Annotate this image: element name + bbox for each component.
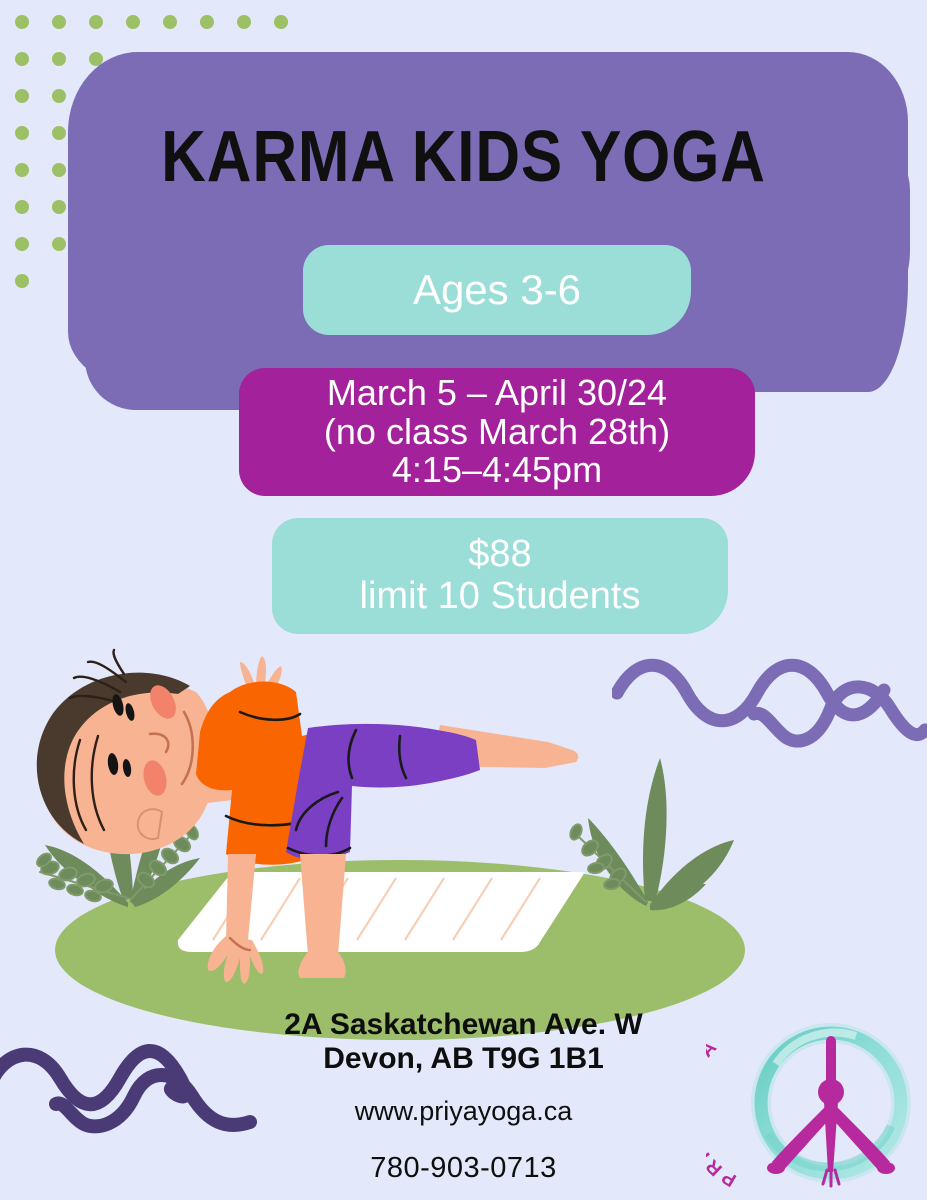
dates-line-3: 4:15–4:45pm: [392, 451, 602, 490]
price-badge: $88 limit 10 Students: [272, 518, 728, 634]
price-amount: $88: [468, 534, 531, 576]
decorative-dot: [52, 15, 66, 29]
decorative-dot: [15, 163, 29, 177]
decorative-dot: [52, 237, 66, 251]
decorative-dot: [15, 89, 29, 103]
decorative-dot: [163, 15, 177, 29]
decorative-dot: [15, 126, 29, 140]
decorative-dot: [200, 15, 214, 29]
decorative-dot: [237, 15, 251, 29]
dates-badge: March 5 – April 30/24 (no class March 28…: [239, 368, 755, 496]
dates-line-2: (no class March 28th): [324, 413, 670, 452]
logo-brand-text: PRIYA YOGA: [706, 1034, 740, 1190]
decorative-dot: [274, 15, 288, 29]
priya-yoga-logo: PRIYA YOGA: [706, 1006, 918, 1200]
ages-badge-label: Ages 3-6: [413, 269, 581, 311]
yoga-child-illustration: [0, 640, 927, 1040]
decorative-dot: [15, 15, 29, 29]
decorative-dot: [52, 89, 66, 103]
decorative-dot: [15, 237, 29, 251]
decorative-dot: [52, 200, 66, 214]
decorative-dot: [89, 15, 103, 29]
dates-line-1: March 5 – April 30/24: [327, 374, 667, 413]
decorative-dot: [15, 52, 29, 66]
ages-badge: Ages 3-6: [303, 245, 691, 335]
decorative-dot: [15, 200, 29, 214]
child-head-icon: [37, 650, 216, 854]
decorative-dot: [15, 274, 29, 288]
price-limit: limit 10 Students: [360, 576, 641, 618]
decorative-dot: [52, 52, 66, 66]
decorative-dot: [126, 15, 140, 29]
poster-canvas: KARMA KIDS YOGA Ages 3-6 March 5 – April…: [0, 0, 927, 1200]
page-title: KARMA KIDS YOGA: [65, 116, 862, 198]
